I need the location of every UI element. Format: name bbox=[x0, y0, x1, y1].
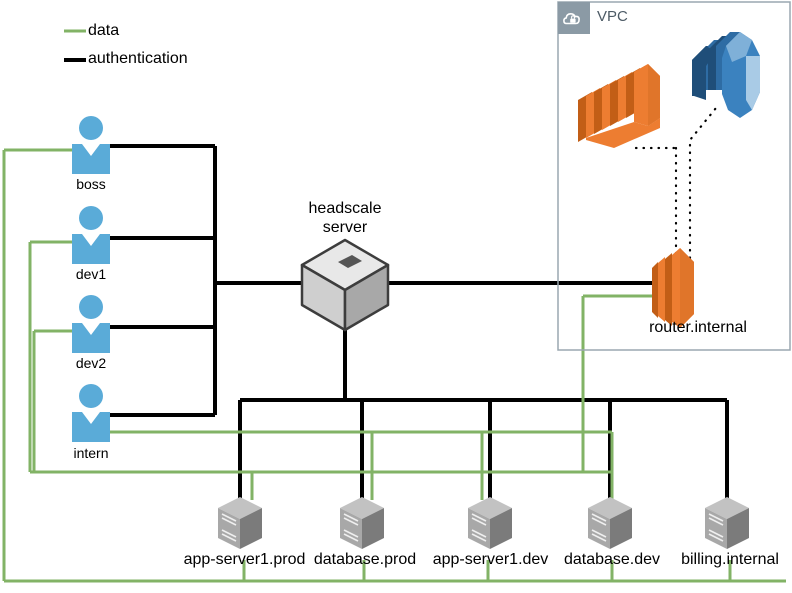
headscale-server-icon bbox=[302, 240, 388, 330]
server-icons bbox=[218, 497, 749, 549]
headscale-label-line2: server bbox=[323, 219, 367, 236]
server-label-database-dev: database.dev bbox=[552, 550, 672, 569]
actor-icon bbox=[72, 116, 110, 174]
user-label-dev2: dev2 bbox=[41, 355, 141, 372]
server-icon bbox=[588, 497, 632, 549]
actor-icon bbox=[72, 384, 110, 442]
user-label-boss: boss bbox=[41, 176, 141, 193]
server-icon bbox=[468, 497, 512, 549]
router-internal-label: router.internal bbox=[613, 318, 783, 337]
aws-instance-stack-orange bbox=[578, 64, 660, 148]
legend-label-data: data bbox=[88, 22, 119, 40]
legend-label-authentication: authentication bbox=[88, 50, 188, 68]
user-label-dev1: dev1 bbox=[41, 266, 141, 283]
server-icon bbox=[705, 497, 749, 549]
actor-icon bbox=[72, 295, 110, 353]
server-label-app-server1-prod: app-server1.prod bbox=[172, 550, 317, 569]
connection-wires bbox=[0, 0, 792, 593]
network-diagram: data authentication boss dev1 dev2 inter… bbox=[0, 0, 792, 593]
server-icon bbox=[340, 497, 384, 549]
vpc-title: VPC bbox=[597, 8, 628, 25]
server-label-billing-internal: billing.internal bbox=[668, 550, 792, 569]
aws-instance-stack-blue bbox=[692, 32, 760, 118]
router-internal-icon bbox=[652, 248, 694, 328]
server-label-app-server1-dev: app-server1.dev bbox=[423, 550, 558, 569]
user-label-intern: intern bbox=[41, 445, 141, 462]
actor-icon bbox=[72, 206, 110, 264]
server-label-database-prod: database.prod bbox=[300, 550, 430, 569]
server-icon bbox=[218, 497, 262, 549]
headscale-label-line1: headscale bbox=[309, 200, 382, 217]
